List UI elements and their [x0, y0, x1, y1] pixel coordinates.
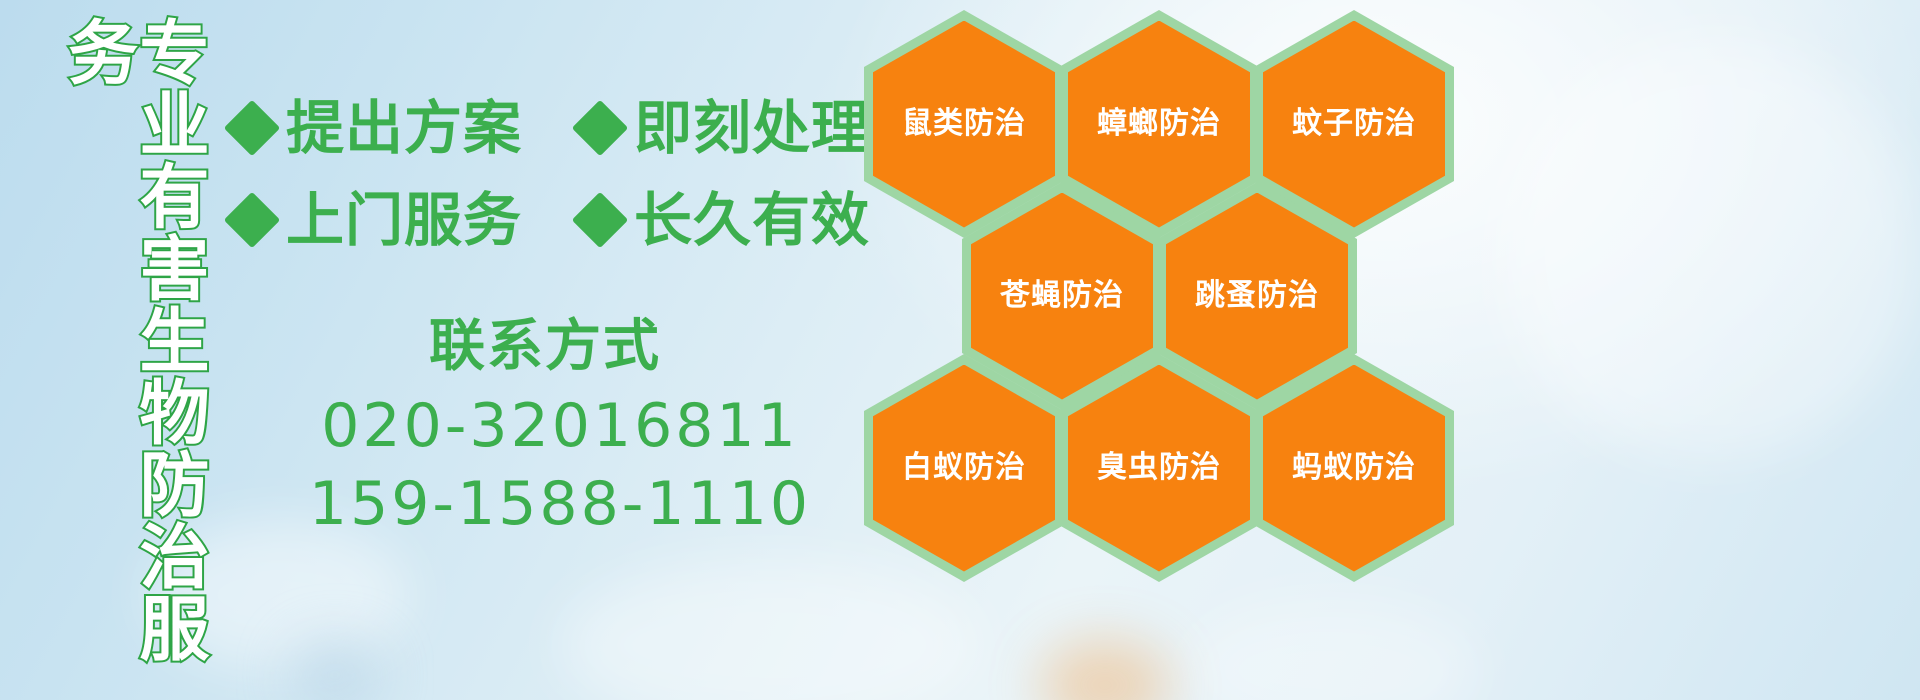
service-label: 蚂蚁防治	[1292, 453, 1416, 483]
feature-label: 长久有效	[634, 191, 870, 249]
vertical-headline: 专业有害生物防治服务	[108, 16, 204, 700]
service-label: 蚊子防治	[1292, 109, 1416, 139]
hex-inner: 鼠类防治	[873, 21, 1055, 228]
feature-row: 上门服务 长久有效	[232, 174, 872, 266]
feature-list: 提出方案 即刻处理 上门服务 长久有效	[232, 82, 872, 266]
hex-inner: 臭虫防治	[1068, 365, 1250, 572]
feature-item: 提出方案	[232, 99, 522, 157]
background-bokeh-blob	[290, 640, 380, 700]
service-label: 苍蝇防治	[1000, 281, 1124, 311]
diamond-bullet-icon	[224, 192, 281, 249]
background-bokeh-blob	[1500, 40, 1920, 460]
service-label: 臭虫防治	[1097, 453, 1221, 483]
feature-row: 提出方案 即刻处理	[232, 82, 872, 174]
service-label: 鼠类防治	[902, 109, 1026, 139]
hex-inner: 蚊子防治	[1263, 21, 1445, 228]
diamond-bullet-icon	[572, 100, 629, 157]
feature-label: 上门服务	[286, 191, 522, 249]
feature-label: 提出方案	[286, 99, 522, 157]
feature-item: 长久有效	[580, 191, 870, 249]
hex-inner: 苍蝇防治	[971, 193, 1153, 400]
contact-block: 联系方式 020-32016811 159-1588-1110	[300, 316, 820, 543]
hex-inner: 蟑螂防治	[1068, 21, 1250, 228]
feature-label: 即刻处理	[634, 99, 870, 157]
contact-heading: 联系方式	[270, 316, 820, 378]
service-label: 蟑螂防治	[1097, 109, 1221, 139]
diamond-bullet-icon	[572, 192, 629, 249]
service-honeycomb: 鼠类防治 蟑螂防治 蚊子防治 苍蝇防治 跳蚤防治 白蚁防治	[856, 0, 1476, 700]
promo-banner: 专业有害生物防治服务 提出方案 即刻处理 上门服务 长久有效	[0, 0, 1920, 700]
feature-item: 上门服务	[232, 191, 522, 249]
hex-inner: 白蚁防治	[873, 365, 1055, 572]
phone-landline[interactable]: 020-32016811	[300, 388, 820, 465]
hex-inner: 跳蚤防治	[1166, 193, 1348, 400]
service-label: 白蚁防治	[902, 453, 1026, 483]
diamond-bullet-icon	[224, 100, 281, 157]
phone-mobile[interactable]: 159-1588-1110	[300, 466, 820, 543]
feature-item: 即刻处理	[580, 99, 870, 157]
service-label: 跳蚤防治	[1195, 281, 1319, 311]
hex-inner: 蚂蚁防治	[1263, 365, 1445, 572]
